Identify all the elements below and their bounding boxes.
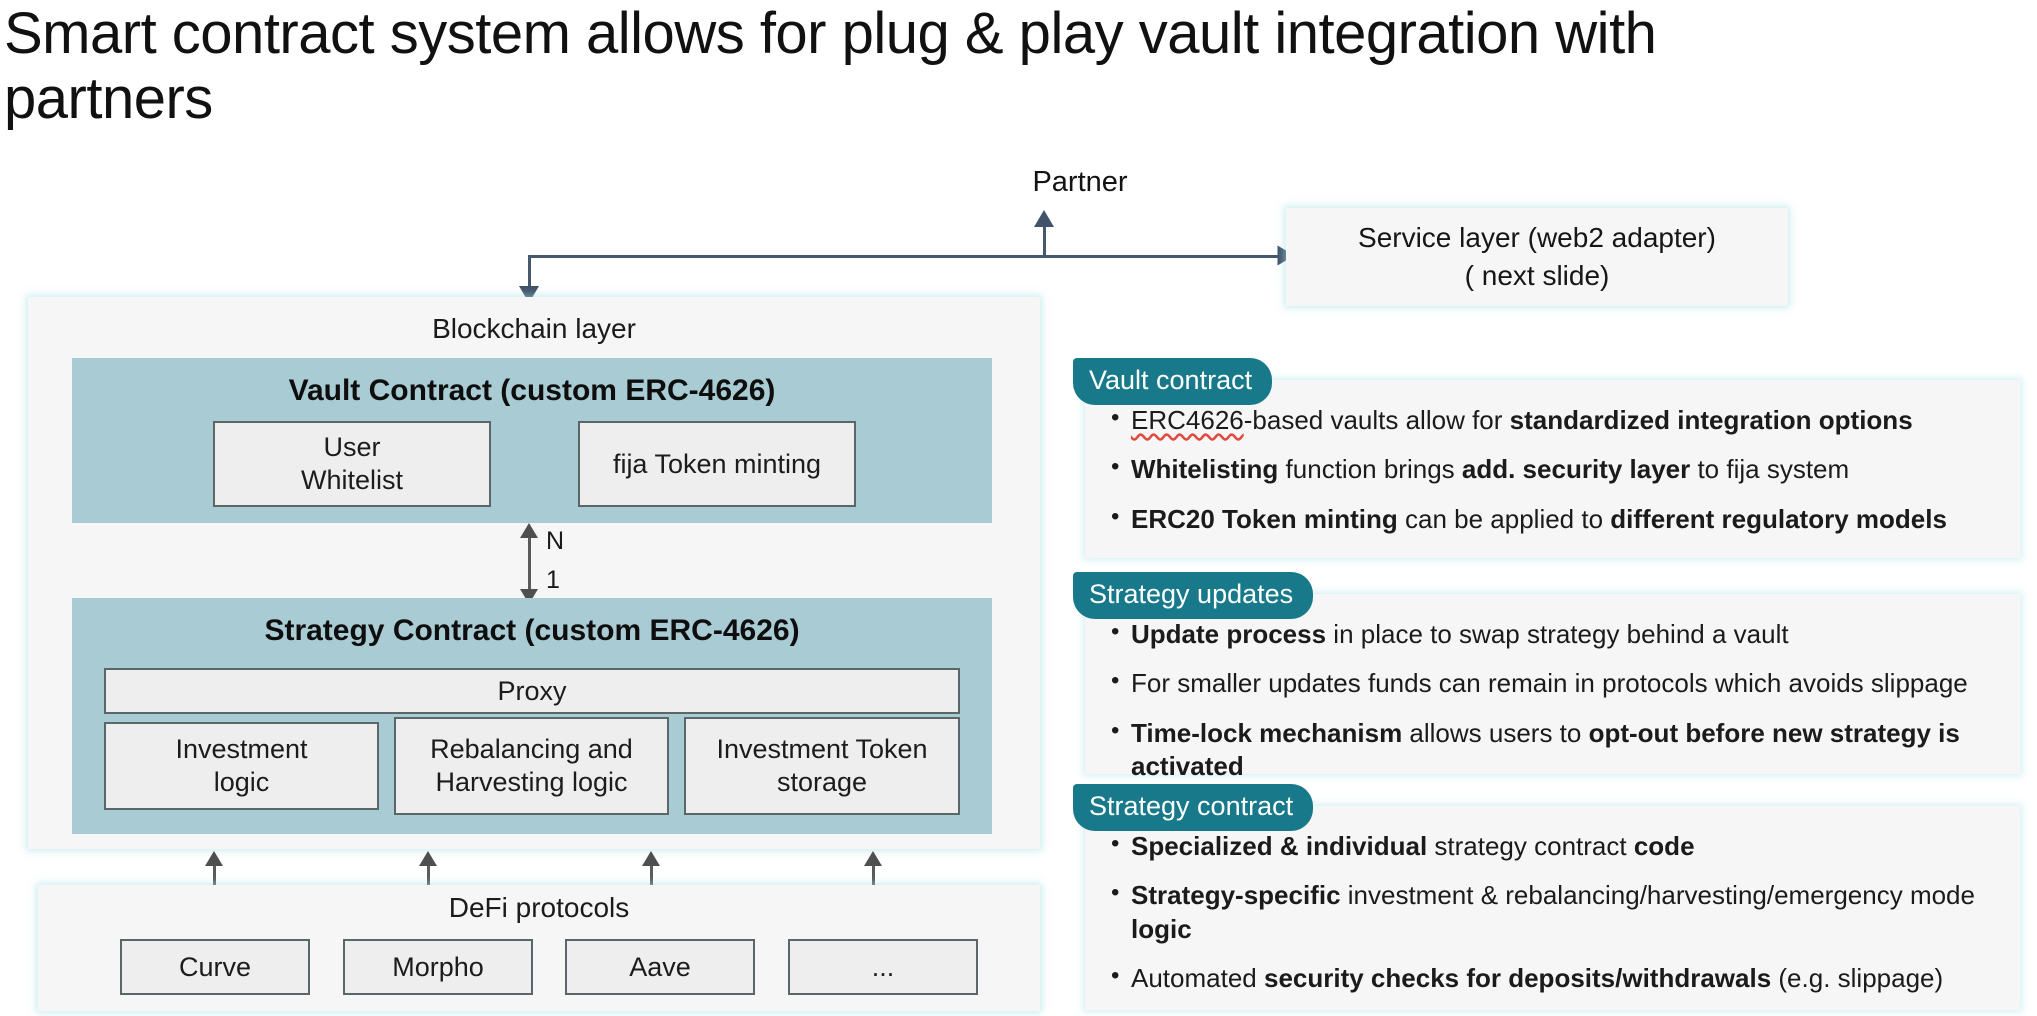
bullet-item: Specialized & individual strategy contra… — [1109, 830, 2004, 863]
partner-label: Partner — [990, 166, 1170, 199]
bullet-emphasis: standardized integration options — [1510, 405, 1913, 435]
bullet-text: investment & rebalancing/harvesting/emer… — [1341, 880, 1975, 910]
vault-contract-title: Vault Contract (custom ERC-4626) — [72, 374, 992, 408]
bullet-text: in place to swap strategy behind a vault — [1326, 619, 1789, 649]
defi-protocol-curve[interactable]: Curve — [120, 939, 310, 995]
bullet-emphasis: Specialized & individual — [1131, 831, 1427, 861]
bullet-list-strategy-updates: Update process in place to swap strategy… — [1109, 618, 2004, 799]
service-layer-line2: ( next slide) — [1465, 257, 1610, 295]
bullet-text: function brings — [1278, 454, 1462, 484]
defi-protocol-morpho[interactable]: Morpho — [343, 939, 533, 995]
cardinality-n: N — [546, 527, 564, 556]
bullet-emphasis: Time-lock mechanism — [1131, 718, 1402, 748]
bullet-text: DeFi protocol integrations add up to — [1131, 1012, 1550, 1016]
badge-strategy-contract[interactable]: Strategy contract — [1073, 784, 1313, 831]
page-title: Smart contract system allows for plug & … — [4, 2, 1704, 132]
bullet-emphasis: security checks for deposits/withdrawals — [1264, 963, 1771, 993]
bullet-text: ERC4626 — [1131, 405, 1244, 435]
vault-cell-fija-token-minting-label: fija Token minting — [613, 448, 821, 481]
bullet-item: Update process in place to swap strategy… — [1109, 618, 2004, 651]
bullet-item: For smaller updates funds can remain in … — [1109, 667, 2004, 700]
service-layer-line1: Service layer (web2 adapter) — [1358, 219, 1716, 257]
strategy-cell-rebalancing-harvesting-logic[interactable]: Rebalancing and Harvesting logic — [394, 717, 669, 815]
bullet-emphasis: different regulatory models — [1610, 504, 1947, 534]
bullet-text: strategy contract — [1427, 831, 1634, 861]
strategy-cell-investment-token-storage-line1: Investment Token — [716, 733, 927, 766]
bullet-emphasis: code — [1634, 831, 1695, 861]
service-layer-box[interactable]: Service layer (web2 adapter) ( next slid… — [1286, 208, 1788, 306]
vault-cell-user-whitelist[interactable]: User Whitelist — [213, 421, 491, 507]
defi-protocols-label: DeFi protocols — [38, 892, 1040, 924]
defi-protocol-morpho-label: Morpho — [392, 951, 484, 984]
defi-connector-arrow-up-2 — [419, 851, 437, 866]
bullet-item: Strategy-specific investment & rebalanci… — [1109, 879, 2004, 946]
bullet-text: (e.g. slippage) — [1771, 963, 1943, 993]
cardinality-arrow-stem — [528, 530, 531, 596]
defi-protocol-more[interactable]: ... — [788, 939, 978, 995]
strategy-contract-title: Strategy Contract (custom ERC-4626) — [72, 614, 992, 648]
vault-cell-user-whitelist-line2: Whitelist — [301, 464, 403, 497]
strategy-cell-investment-logic[interactable]: Investment logic — [104, 722, 379, 810]
slide-canvas: Smart contract system allows for plug & … — [0, 0, 2037, 1016]
bullet-item: Whitelisting function brings add. securi… — [1109, 453, 2004, 486]
vault-cell-fija-token-minting[interactable]: fija Token minting — [578, 421, 856, 507]
bullet-text: can be applied to — [1398, 504, 1611, 534]
strategy-cell-investment-logic-line2: logic — [214, 766, 270, 799]
bullet-emphasis: add. security layer — [1462, 454, 1690, 484]
bullet-text: allows users to — [1402, 718, 1588, 748]
badge-strategy-updates[interactable]: Strategy updates — [1073, 572, 1313, 619]
defi-connector-arrow-up-3 — [642, 851, 660, 866]
defi-connector-arrow-up-4 — [864, 851, 882, 866]
defi-connector-arrow-up-1 — [205, 851, 223, 866]
blockchain-layer-label: Blockchain layer — [28, 313, 1040, 345]
cardinality-arrow-head-up — [520, 523, 538, 538]
defi-protocol-aave[interactable]: Aave — [565, 939, 755, 995]
bullet-emphasis: Whitelisting — [1131, 454, 1278, 484]
strategy-cell-investment-logic-line1: Investment — [175, 733, 307, 766]
badge-vault-contract[interactable]: Vault contract — [1073, 358, 1272, 405]
bullet-item: Automated security checks for deposits/w… — [1109, 962, 2004, 995]
strategy-cell-proxy-label: Proxy — [497, 675, 566, 708]
bullet-item: DeFi protocol integrations add up to inf… — [1109, 1011, 2004, 1016]
defi-protocol-more-label: ... — [872, 951, 895, 984]
bullet-emphasis: infrastructure library — [1550, 1012, 1806, 1016]
strategy-cell-proxy[interactable]: Proxy — [104, 668, 960, 714]
defi-protocol-curve-label: Curve — [179, 951, 251, 984]
bullet-list-vault-contract: ERC4626-based vaults allow for standardi… — [1109, 404, 2004, 552]
bullet-item: Time-lock mechanism allows users to opt-… — [1109, 717, 2004, 784]
bullet-item: ERC20 Token minting can be applied to di… — [1109, 503, 2004, 536]
bullet-item: ERC4626-based vaults allow for standardi… — [1109, 404, 2004, 437]
bullet-text: to fija system — [1690, 454, 1849, 484]
strategy-cell-rebalancing-harvesting-logic-line2: Harvesting logic — [435, 766, 627, 799]
partner-arrow-head — [1034, 210, 1054, 227]
bullet-text: -based vaults allow for — [1244, 405, 1510, 435]
bullet-emphasis: Update process — [1131, 619, 1326, 649]
cardinality-1: 1 — [546, 566, 560, 595]
vault-cell-user-whitelist-line1: User — [323, 431, 380, 464]
bullet-text: For smaller updates funds can remain in … — [1131, 668, 1968, 698]
strategy-cell-rebalancing-harvesting-logic-line1: Rebalancing and — [430, 733, 633, 766]
bullet-emphasis: ERC20 Token minting — [1131, 504, 1398, 534]
defi-protocol-aave-label: Aave — [629, 951, 691, 984]
bullet-text: Automated — [1131, 963, 1264, 993]
bullet-emphasis: Strategy-specific — [1131, 880, 1341, 910]
bullet-emphasis: logic — [1131, 914, 1192, 944]
strategy-cell-investment-token-storage[interactable]: Investment Token storage — [684, 717, 960, 815]
strategy-cell-investment-token-storage-line2: storage — [777, 766, 867, 799]
bullet-list-strategy-contract: Specialized & individual strategy contra… — [1109, 830, 2004, 1016]
connector-horizontal — [528, 255, 1288, 258]
